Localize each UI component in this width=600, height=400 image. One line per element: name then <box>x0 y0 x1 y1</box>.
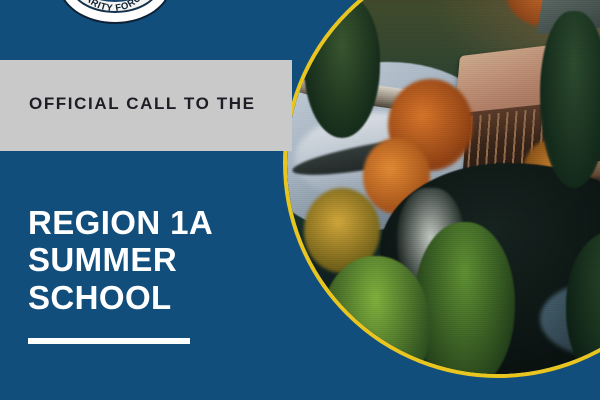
photo-inner <box>287 0 600 374</box>
headline-underline-rule <box>28 338 190 344</box>
seal-arc-textpath: DARITY FORCE <box>78 0 149 14</box>
headline-block: REGION 1A SUMMER SCHOOL <box>28 204 213 316</box>
seal-arc-label: DARITY FORCE <box>78 0 149 14</box>
seal-arc-text-icon: DARITY FORCE <box>58 0 168 20</box>
headline-line-2: SUMMER <box>28 241 213 278</box>
headline-line-1: REGION 1A <box>28 204 213 241</box>
headline-line-3: SCHOOL <box>28 279 213 316</box>
lodge-photo-circle <box>283 0 600 378</box>
poster-canvas: OFFICIAL CALL TO THE DARITY FORCE REGION… <box>0 0 600 400</box>
photo-grain-overlay <box>287 0 600 374</box>
eyebrow-text: OFFICIAL CALL TO THE <box>29 94 256 114</box>
